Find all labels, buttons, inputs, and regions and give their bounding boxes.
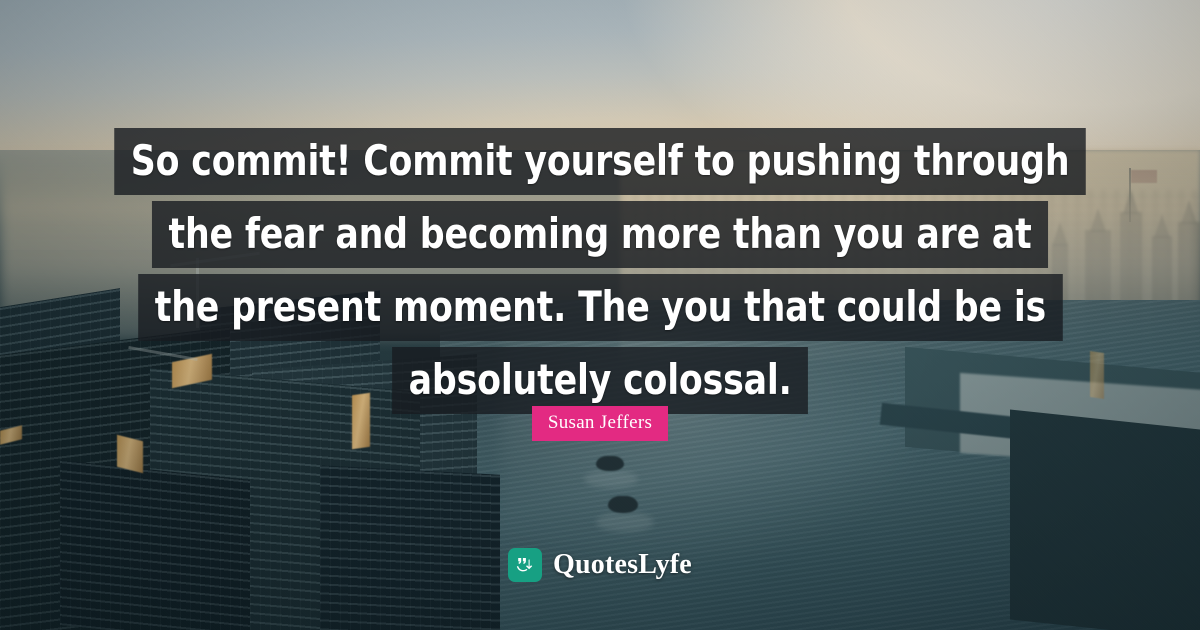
brand-name: QuotesLyfe (553, 549, 692, 581)
quote-line: the present moment. The you that could b… (138, 274, 1062, 341)
quote-text: So commit! Commit yourself to pushing th… (0, 128, 1200, 420)
quote-line: the fear and becoming more than you are … (152, 201, 1048, 268)
quote-card: So commit! Commit yourself to pushing th… (0, 0, 1200, 630)
quote-line: So commit! Commit yourself to pushing th… (114, 128, 1086, 195)
author-badge-wrapper: Susan Jeffers (0, 406, 1200, 441)
quote-smiley-icon (508, 548, 542, 582)
author-badge[interactable]: Susan Jeffers (532, 406, 668, 441)
brand-logo[interactable]: QuotesLyfe (0, 548, 1200, 582)
quote-line: absolutely colossal. (392, 347, 808, 414)
